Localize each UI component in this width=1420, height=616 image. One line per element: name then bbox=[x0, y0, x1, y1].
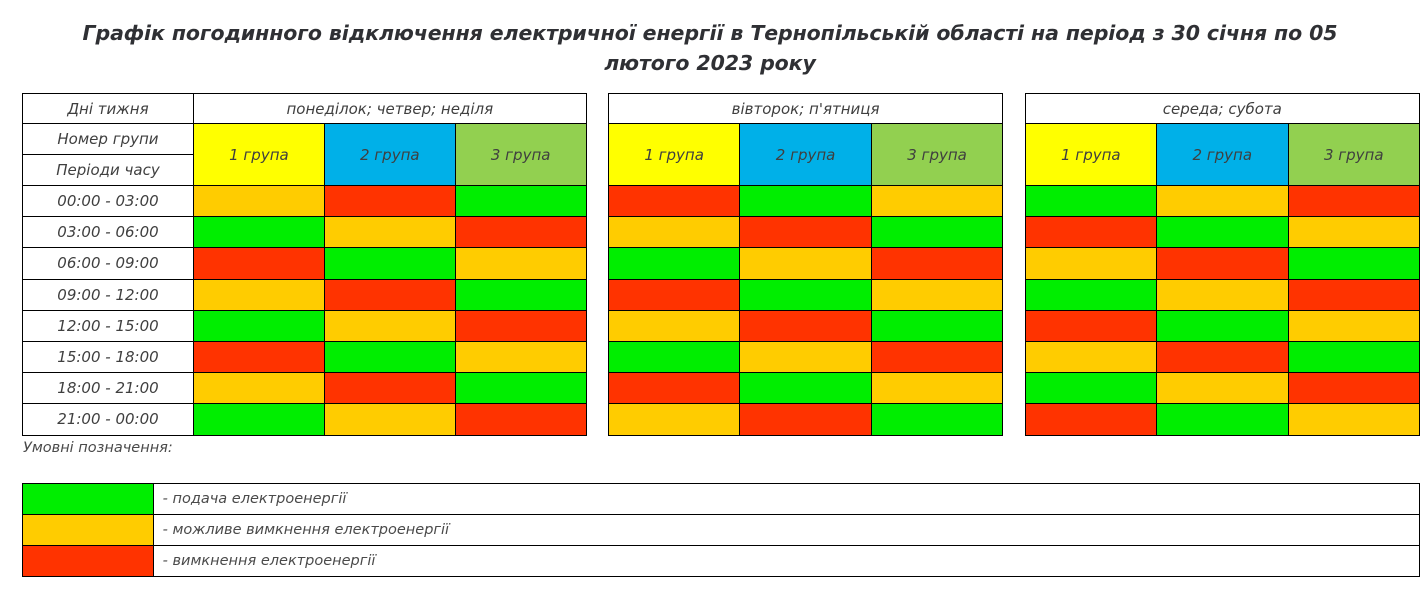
schedule-cell-maybe bbox=[455, 341, 586, 372]
schedule-cell-off bbox=[455, 310, 586, 341]
schedule-cell-on bbox=[1157, 217, 1288, 248]
day-header-row: середа; субота bbox=[1025, 94, 1419, 124]
time-slot-label: 21:00 - 00:00 bbox=[23, 404, 194, 435]
schedule-cell-on bbox=[740, 186, 871, 217]
schedule-cell-off bbox=[193, 248, 324, 279]
legend-table: - подача електроенергії- можливе вимкнен… bbox=[22, 483, 1420, 577]
schedule-cell-maybe bbox=[324, 217, 455, 248]
schedule-cell-on bbox=[871, 404, 1002, 435]
group-header-2: 2 група bbox=[740, 124, 871, 186]
legend-row: - подача електроенергії bbox=[23, 484, 1420, 515]
table-row bbox=[608, 310, 1002, 341]
group-header-3: 3 група bbox=[871, 124, 1002, 186]
schedule-cell-on bbox=[455, 279, 586, 310]
legend-label-3: - вимкнення електроенергії bbox=[153, 546, 1419, 577]
schedule-cell-off bbox=[1157, 341, 1288, 372]
schedule-cell-maybe bbox=[455, 248, 586, 279]
schedule-cell-maybe bbox=[740, 248, 871, 279]
table-row: 12:00 - 15:00 bbox=[23, 310, 587, 341]
schedule-cell-maybe bbox=[608, 217, 739, 248]
table-row bbox=[1025, 310, 1419, 341]
legend-row: - можливе вимкнення електроенергії bbox=[23, 515, 1420, 546]
schedule-cell-off bbox=[740, 310, 871, 341]
table-row bbox=[1025, 279, 1419, 310]
table-row bbox=[1025, 341, 1419, 372]
schedule-body: вівторок; п'ятниця1 група2 група3 група bbox=[608, 94, 1002, 436]
table-row bbox=[608, 217, 1002, 248]
schedule-cell-maybe bbox=[608, 404, 739, 435]
schedule-cell-maybe bbox=[1157, 279, 1288, 310]
table-row bbox=[1025, 248, 1419, 279]
group-header-row: Номер групи1 група2 група3 група bbox=[23, 124, 587, 155]
table-row bbox=[608, 404, 1002, 435]
group-header-1: 1 група bbox=[193, 124, 324, 186]
legend-caption: Умовні позначення: bbox=[23, 440, 173, 456]
schedule-cell-on bbox=[193, 404, 324, 435]
schedule-cell-maybe bbox=[871, 186, 1002, 217]
schedule-tables: Дні тижняпонеділок; четвер; неділяНомер … bbox=[22, 93, 1420, 436]
group-header-3: 3 група bbox=[455, 124, 586, 186]
schedule-cell-off bbox=[740, 404, 871, 435]
legend-row: - вимкнення електроенергії bbox=[23, 546, 1420, 577]
table-row: 18:00 - 21:00 bbox=[23, 373, 587, 404]
label-days-of-week: Дні тижня bbox=[23, 94, 194, 124]
schedule-cell-maybe bbox=[740, 341, 871, 372]
schedule-table-3: середа; субота1 група2 група3 група bbox=[1025, 93, 1420, 436]
schedule-cell-maybe bbox=[1157, 186, 1288, 217]
schedule-cell-maybe bbox=[871, 373, 1002, 404]
group-header-2: 2 група bbox=[324, 124, 455, 186]
schedule-cell-off bbox=[455, 404, 586, 435]
schedule-cell-maybe bbox=[608, 310, 739, 341]
schedule-cell-off bbox=[324, 186, 455, 217]
schedule-cell-on bbox=[1025, 186, 1156, 217]
schedule-cell-on bbox=[1288, 341, 1419, 372]
schedule-cell-on bbox=[740, 373, 871, 404]
schedule-cell-off bbox=[324, 373, 455, 404]
schedule-cell-off bbox=[193, 341, 324, 372]
schedule-cell-on bbox=[1025, 373, 1156, 404]
schedule-cell-maybe bbox=[193, 373, 324, 404]
schedule-cell-off bbox=[1157, 248, 1288, 279]
table-row: 09:00 - 12:00 bbox=[23, 279, 587, 310]
time-slot-label: 09:00 - 12:00 bbox=[23, 279, 194, 310]
schedule-cell-off bbox=[608, 186, 739, 217]
schedule-table-2: вівторок; п'ятниця1 група2 група3 група bbox=[608, 93, 1003, 436]
legend-swatch-1 bbox=[23, 484, 154, 515]
schedule-cell-off bbox=[740, 217, 871, 248]
group-header-2: 2 група bbox=[1157, 124, 1288, 186]
schedule-cell-on bbox=[1157, 310, 1288, 341]
day-header-row: Дні тижняпонеділок; четвер; неділя bbox=[23, 94, 587, 124]
schedule-body: середа; субота1 група2 група3 група bbox=[1025, 94, 1419, 436]
time-slot-label: 00:00 - 03:00 bbox=[23, 186, 194, 217]
legend-label-1: - подача електроенергії bbox=[153, 484, 1419, 515]
table-row bbox=[1025, 404, 1419, 435]
table-row: 15:00 - 18:00 bbox=[23, 341, 587, 372]
table-row: 21:00 - 00:00 bbox=[23, 404, 587, 435]
table-row: 00:00 - 03:00 bbox=[23, 186, 587, 217]
table-row bbox=[608, 279, 1002, 310]
table-row bbox=[608, 373, 1002, 404]
schedule-body: Дні тижняпонеділок; четвер; неділяНомер … bbox=[23, 94, 587, 436]
day-header-row: вівторок; п'ятниця bbox=[608, 94, 1002, 124]
time-slot-label: 12:00 - 15:00 bbox=[23, 310, 194, 341]
schedule-cell-on bbox=[455, 186, 586, 217]
time-slot-label: 15:00 - 18:00 bbox=[23, 341, 194, 372]
table-row: 03:00 - 06:00 bbox=[23, 217, 587, 248]
schedule-cell-off bbox=[1288, 279, 1419, 310]
table-row bbox=[1025, 373, 1419, 404]
day-header: понеділок; четвер; неділя bbox=[193, 94, 586, 124]
group-header-1: 1 група bbox=[1025, 124, 1156, 186]
schedule-cell-off bbox=[455, 217, 586, 248]
day-header: вівторок; п'ятниця bbox=[608, 94, 1002, 124]
label-group-number: Номер групи bbox=[23, 124, 194, 155]
legend-label-2: - можливе вимкнення електроенергії bbox=[153, 515, 1419, 546]
schedule-cell-on bbox=[871, 217, 1002, 248]
schedule-cell-off bbox=[1288, 373, 1419, 404]
schedule-cell-maybe bbox=[324, 310, 455, 341]
schedule-cell-off bbox=[871, 341, 1002, 372]
table-row bbox=[608, 341, 1002, 372]
schedule-cell-on bbox=[740, 279, 871, 310]
schedule-cell-off bbox=[608, 373, 739, 404]
schedule-cell-off bbox=[1025, 404, 1156, 435]
schedule-cell-on bbox=[1025, 279, 1156, 310]
schedule-cell-maybe bbox=[1288, 217, 1419, 248]
schedule-cell-maybe bbox=[1025, 248, 1156, 279]
schedule-cell-maybe bbox=[193, 186, 324, 217]
schedule-cell-maybe bbox=[193, 279, 324, 310]
schedule-cell-off bbox=[324, 279, 455, 310]
page-title: Графік погодинного відключення електричн… bbox=[40, 0, 1380, 78]
schedule-table-1: Дні тижняпонеділок; четвер; неділяНомер … bbox=[22, 93, 587, 436]
table-row bbox=[1025, 186, 1419, 217]
legend-swatch-3 bbox=[23, 546, 154, 577]
schedule-cell-off bbox=[1025, 310, 1156, 341]
schedule-cell-maybe bbox=[1025, 341, 1156, 372]
schedule-cell-maybe bbox=[1288, 404, 1419, 435]
group-header-3: 3 група bbox=[1288, 124, 1419, 186]
schedule-cell-on bbox=[608, 341, 739, 372]
legend-body: - подача електроенергії- можливе вимкнен… bbox=[23, 484, 1420, 577]
schedule-cell-on bbox=[324, 341, 455, 372]
schedule-cell-maybe bbox=[1288, 310, 1419, 341]
schedule-cell-off bbox=[608, 279, 739, 310]
table-row bbox=[608, 186, 1002, 217]
schedule-cell-on bbox=[324, 248, 455, 279]
schedule-cell-maybe bbox=[1157, 373, 1288, 404]
schedule-cell-maybe bbox=[871, 279, 1002, 310]
time-slot-label: 06:00 - 09:00 bbox=[23, 248, 194, 279]
table-row: 06:00 - 09:00 bbox=[23, 248, 587, 279]
schedule-cell-maybe bbox=[324, 404, 455, 435]
schedule-cell-on bbox=[193, 217, 324, 248]
day-header: середа; субота bbox=[1025, 94, 1419, 124]
legend-swatch-2 bbox=[23, 515, 154, 546]
schedule-cell-on bbox=[1288, 248, 1419, 279]
label-time-periods: Періоди часу bbox=[23, 155, 194, 186]
table-row bbox=[608, 248, 1002, 279]
schedule-cell-on bbox=[608, 248, 739, 279]
group-header-1: 1 група bbox=[608, 124, 739, 186]
time-slot-label: 03:00 - 06:00 bbox=[23, 217, 194, 248]
schedule-cell-on bbox=[455, 373, 586, 404]
schedule-cell-on bbox=[1157, 404, 1288, 435]
schedule-cell-on bbox=[871, 310, 1002, 341]
table-row bbox=[1025, 217, 1419, 248]
page-title-main: Графік погодинного відключення електричн… bbox=[83, 21, 1275, 45]
time-slot-label: 18:00 - 21:00 bbox=[23, 373, 194, 404]
schedule-cell-off bbox=[1288, 186, 1419, 217]
schedule-cell-off bbox=[1025, 217, 1156, 248]
schedule-cell-on bbox=[193, 310, 324, 341]
schedule-cell-off bbox=[871, 248, 1002, 279]
